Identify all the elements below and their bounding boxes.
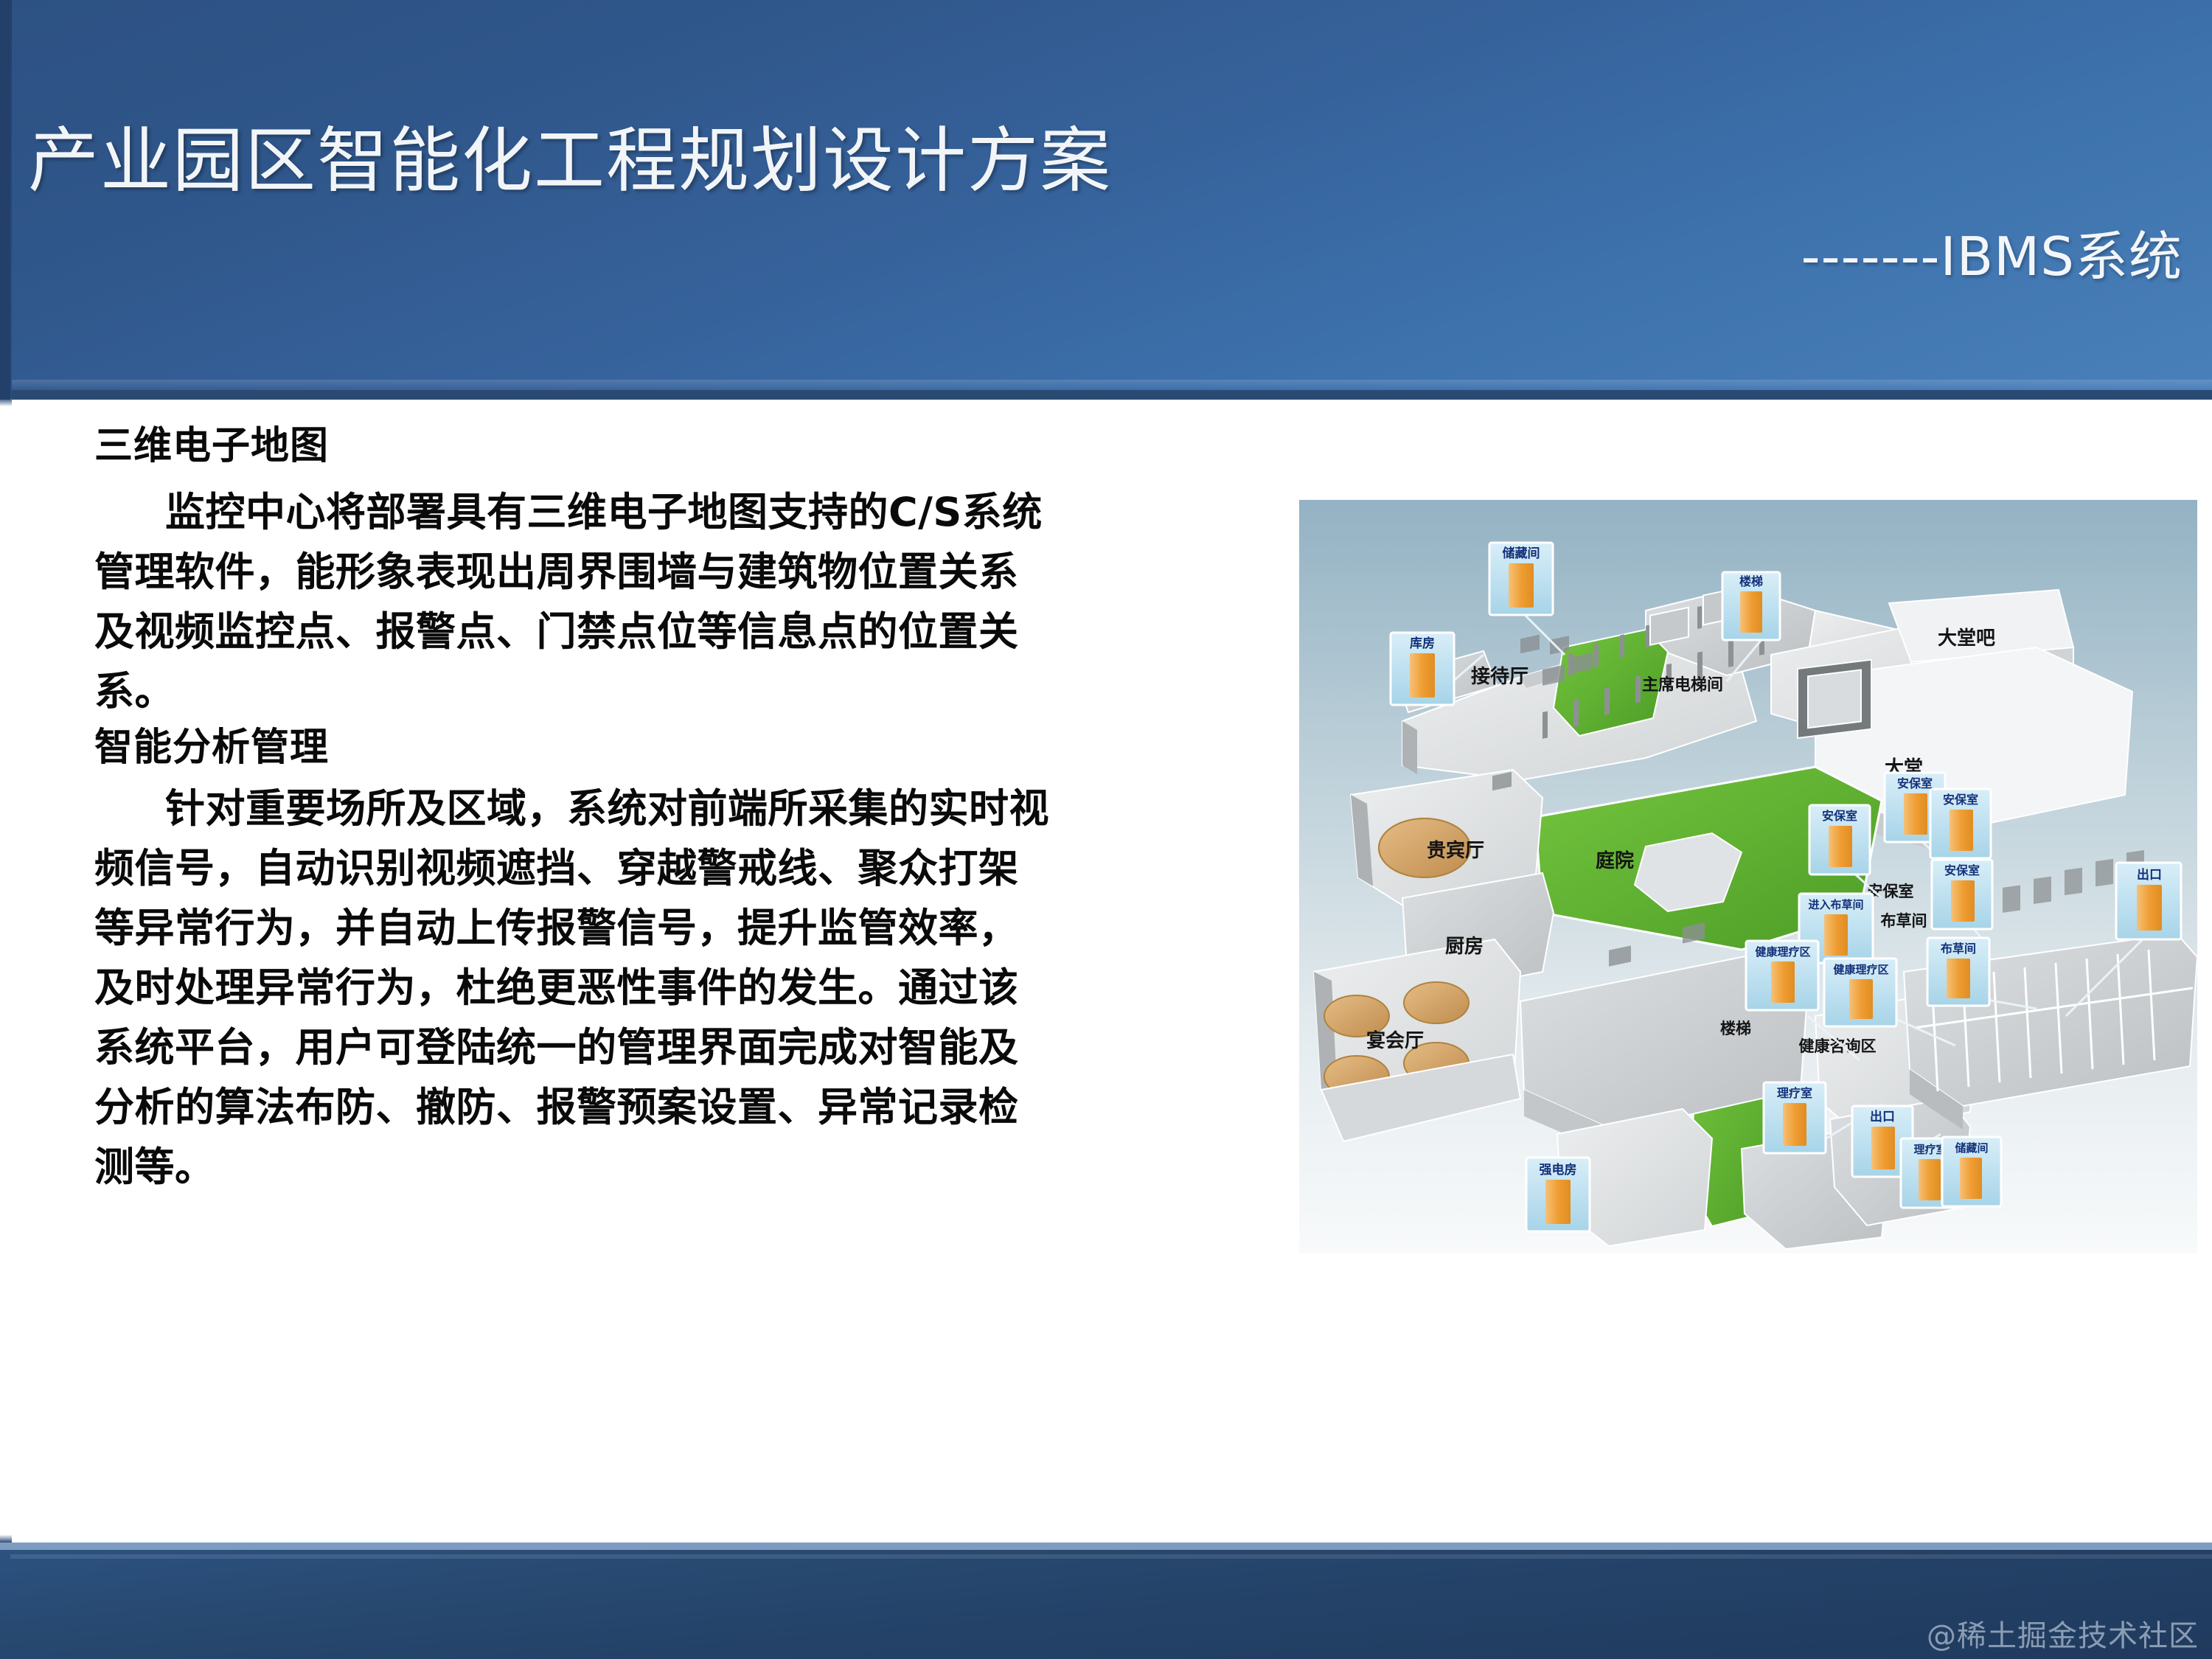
marker-label: 安保室 <box>1897 776 1933 790</box>
marker-label: 布草间 <box>1941 942 1976 956</box>
slide-header: 产业园区智能化工程规划设计方案 -------IBMS系统 <box>0 0 2212 400</box>
section-2-line-6: 分析的算法布防、撤防、报警预案设置、异常记录检 <box>94 1077 1274 1137</box>
left-accent-rail-header <box>0 0 10 400</box>
marker-label: 健康理疗区 <box>1833 963 1888 976</box>
marker-tag: 健康理疗区 <box>1746 941 1818 1010</box>
marker-tag: 库房 <box>1391 633 1454 705</box>
marker-tag: 安保室 <box>1932 860 1992 929</box>
room-label: 接待厅 <box>1471 666 1528 688</box>
slide-footer: @稀土掘金技术社区 <box>0 1543 2212 1659</box>
watermark-text: @稀土掘金技术社区 <box>1927 1612 2199 1655</box>
room-label: 贵宾厅 <box>1427 839 1484 862</box>
marker-label: 安保室 <box>1822 809 1857 823</box>
room-label: 楼梯 <box>1720 1020 1751 1037</box>
marker-tag: 安保室 <box>1809 805 1870 874</box>
marker-tag: 强电房 <box>1526 1158 1590 1231</box>
room-label: 庭院 <box>1596 849 1634 872</box>
marker-label: 进入布草间 <box>1808 898 1863 911</box>
section-2-line-3: 等异常行为，并自动上传报警信号，提升监管效率， <box>94 898 1274 958</box>
section-2-line-7: 测等。 <box>94 1137 1274 1197</box>
marker-tag: 储藏间 <box>1489 543 1553 615</box>
marker-label: 库房 <box>1410 636 1435 651</box>
section-2-line-1: 针对重要场所及区域，系统对前端所采集的实时视 <box>94 779 1274 838</box>
map-illustration-svg: 接待厅 主席电梯间 大堂吧 大堂 贵宾厅 厨房 宴会厅 庭院 楼梯 安保室 布草… <box>1299 500 2197 1253</box>
marker-tag: 安保室 <box>1930 789 1991 858</box>
marker-tag: 布草间 <box>1927 938 1989 1006</box>
marker-tag: 健康理疗区 <box>1824 959 1896 1026</box>
page-title: 产业园区智能化工程规划设计方案 <box>28 125 1112 196</box>
room-label: 主席电梯间 <box>1642 675 1723 695</box>
section-1-line-2: 管理软件，能形象表现出周界围墙与建筑物位置关系 <box>94 542 1274 602</box>
section-1-line-1: 监控中心将部署具有三维电子地图支持的C/S系统 <box>94 482 1274 542</box>
slide-root: 产业园区智能化工程规划设计方案 -------IBMS系统 三维电子地图 监控中… <box>0 0 2212 1659</box>
marker-tag: 理疗室 <box>1764 1082 1826 1153</box>
page-subtitle: -------IBMS系统 <box>1801 230 2183 283</box>
marker-label: 理疗室 <box>1777 1086 1812 1100</box>
section-1-line-3: 及视频监控点、报警点、门禁点位等信息点的位置关 <box>94 602 1274 661</box>
marker-label: 强电房 <box>1540 1162 1577 1178</box>
section-2-line-5: 系统平台，用户可登陆统一的管理界面完成对智能及 <box>94 1018 1274 1077</box>
marker-label: 储藏间 <box>1955 1141 1988 1155</box>
room-label: 宴会厅 <box>1366 1029 1424 1052</box>
section-2-line-2: 频信号，自动识别视频遮挡、穿越警戒线、聚众打架 <box>94 838 1274 898</box>
marker-label: 出口 <box>2137 867 2162 883</box>
section-2-heading: 智能分析管理 <box>94 726 1274 771</box>
marker-label: 储藏间 <box>1503 546 1540 561</box>
content-column: 三维电子地图 监控中心将部署具有三维电子地图支持的C/S系统 管理软件，能形象表… <box>94 424 1274 1201</box>
marker-tag: 出口 <box>2116 863 2181 939</box>
section-2-line-4: 及时处理异常行为，杜绝更恶性事件的发生。通过该 <box>94 958 1274 1018</box>
section-1-line-4: 系。 <box>94 661 1274 721</box>
marker-tag: 楼梯 <box>1722 572 1780 640</box>
marker-label: 出口 <box>1870 1109 1895 1124</box>
header-inner: 产业园区智能化工程规划设计方案 -------IBMS系统 <box>0 0 2212 390</box>
marker-label: 楼梯 <box>1739 574 1763 588</box>
marker-label: 安保室 <box>1943 793 1978 807</box>
section-2-paragraph: 针对重要场所及区域，系统对前端所采集的实时视 频信号，自动识别视频遮挡、穿越警戒… <box>94 779 1274 1197</box>
marker-tag: 储藏间 <box>1942 1137 2001 1206</box>
room-label: 布草间 <box>1881 912 1927 930</box>
section-1-heading: 三维电子地图 <box>94 424 1274 469</box>
three-d-electronic-map-image: 接待厅 主席电梯间 大堂吧 大堂 贵宾厅 厨房 宴会厅 庭院 楼梯 安保室 布草… <box>1299 500 2197 1253</box>
room-label: 厨房 <box>1445 936 1484 958</box>
marker-label: 安保室 <box>1944 863 1980 877</box>
room-label: 大堂吧 <box>1938 627 1995 650</box>
section-1-paragraph: 监控中心将部署具有三维电子地图支持的C/S系统 管理软件，能形象表现出周界围墙与… <box>94 482 1274 721</box>
marker-label: 健康理疗区 <box>1755 945 1810 959</box>
